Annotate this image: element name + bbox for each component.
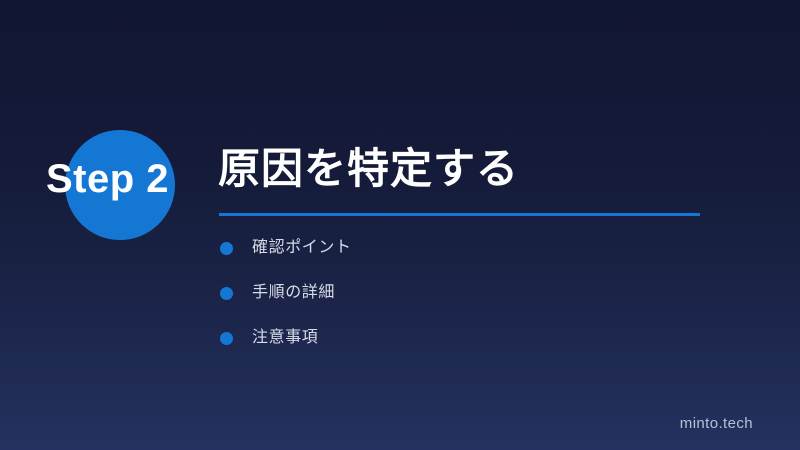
list-item: 手順の詳細 (219, 286, 679, 331)
title-divider (219, 213, 700, 216)
list-item-label: 手順の詳細 (252, 282, 335, 304)
bullet-dot-icon (220, 242, 233, 255)
bullet-list: 確認ポイント 手順の詳細 注意事項 (219, 241, 679, 376)
step-label: Step 2 (46, 155, 206, 203)
list-item-label: 注意事項 (252, 327, 318, 349)
slide-title: 原因を特定する (218, 146, 519, 192)
list-item-label: 確認ポイント (252, 237, 352, 259)
presentation-slide: Step 2 原因を特定する 確認ポイント 手順の詳細 注意事項 minto.t… (0, 0, 800, 450)
footer-branding: minto.tech (680, 415, 753, 432)
bullet-dot-icon (220, 287, 233, 300)
bullet-dot-icon (220, 332, 233, 345)
list-item: 確認ポイント (219, 241, 679, 286)
list-item: 注意事項 (219, 331, 679, 376)
